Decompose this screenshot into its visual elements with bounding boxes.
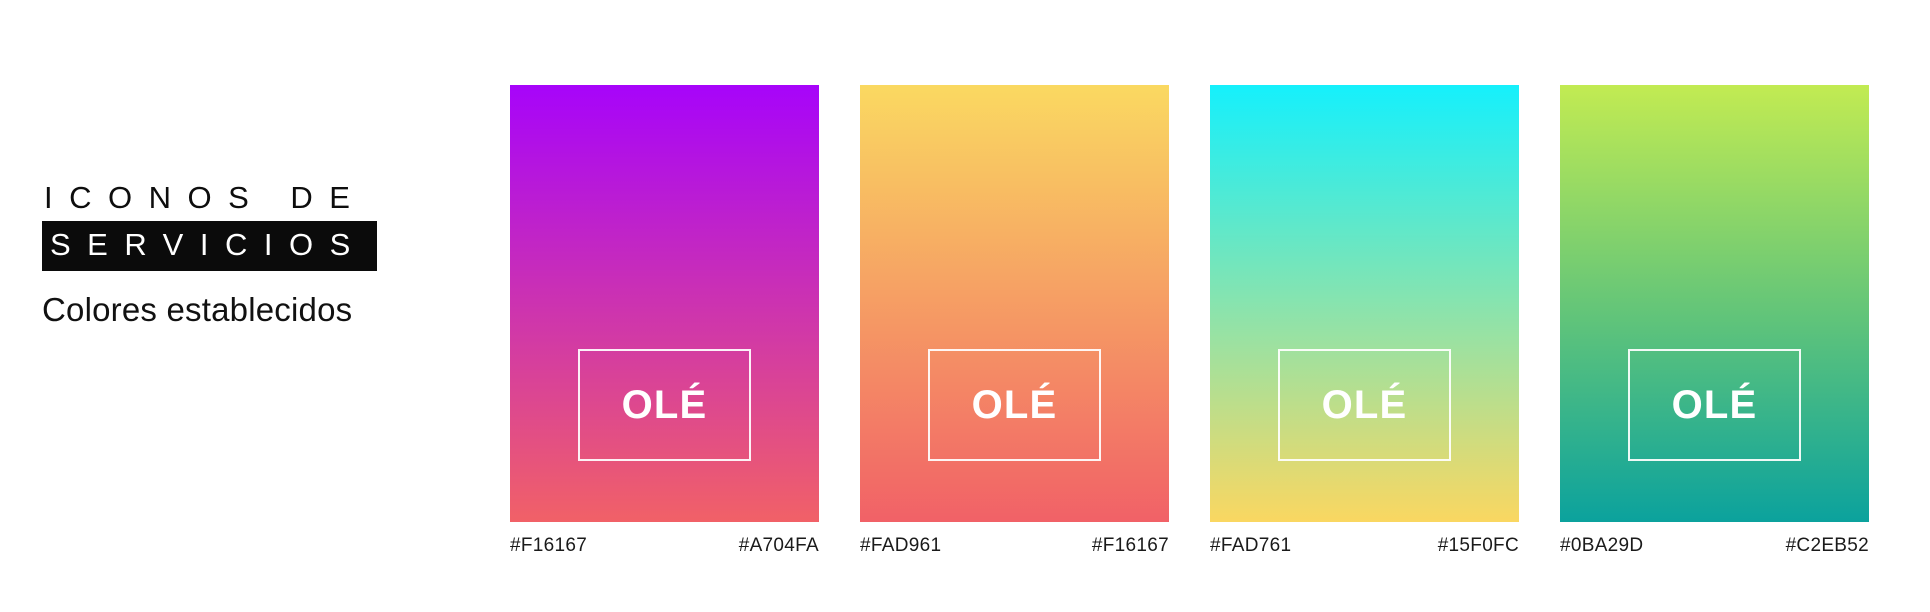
- hex-code-bottom: #0BA29D: [1560, 535, 1643, 557]
- page-title-highlight-bar: SERVICIOS: [42, 221, 377, 271]
- hex-code-bottom: #F16167: [510, 535, 587, 557]
- hex-code-top: #A704FA: [739, 535, 819, 557]
- ole-badge-box: OLÉ: [1628, 349, 1801, 460]
- page-subtitle: Colores establecidos: [42, 291, 462, 329]
- hex-code-top: #FAD961: [860, 535, 941, 557]
- page-title-line-1: ICONOS DE: [42, 178, 462, 218]
- gradient-swatch-strip: OLÉ #F16167 #A704FA OLÉ #FAD961 #F16167: [510, 85, 1870, 557]
- ole-badge-box: OLÉ: [928, 349, 1101, 460]
- ole-badge-box: OLÉ: [578, 349, 751, 460]
- hex-code-bottom: #FAD761: [1210, 535, 1291, 557]
- swatch-hex-labels: #0BA29D #C2EB52: [1560, 535, 1869, 557]
- title-block: ICONOS DE SERVICIOS Colores establecidos: [42, 178, 462, 329]
- ole-badge-box: OLÉ: [1278, 349, 1451, 460]
- swatch-card-gradient[interactable]: OLÉ: [510, 85, 819, 522]
- swatch-magenta-purple[interactable]: OLÉ #F16167 #A704FA: [510, 85, 819, 557]
- ole-badge-label: OLÉ: [1322, 385, 1408, 425]
- hex-code-top: #C2EB52: [1786, 535, 1869, 557]
- swatch-lime-teal[interactable]: OLÉ #0BA29D #C2EB52: [1560, 85, 1869, 557]
- hex-code-bottom: #F16167: [1092, 535, 1169, 557]
- ole-badge-label: OLÉ: [622, 385, 708, 425]
- swatch-hex-labels: #FAD761 #15F0FC: [1210, 535, 1519, 557]
- swatch-cyan-yellow[interactable]: OLÉ #FAD761 #15F0FC: [1210, 85, 1519, 557]
- swatch-yellow-coral[interactable]: OLÉ #FAD961 #F16167: [860, 85, 1169, 557]
- hex-code-top: #15F0FC: [1438, 535, 1519, 557]
- page-title-line-2: SERVICIOS: [50, 228, 367, 262]
- swatch-hex-labels: #F16167 #A704FA: [510, 535, 819, 557]
- swatch-hex-labels: #FAD961 #F16167: [860, 535, 1169, 557]
- color-palette-board: ICONOS DE SERVICIOS Colores establecidos…: [0, 0, 1930, 612]
- swatch-card-gradient[interactable]: OLÉ: [1210, 85, 1519, 522]
- ole-badge-label: OLÉ: [1672, 385, 1758, 425]
- ole-badge-label: OLÉ: [972, 385, 1058, 425]
- swatch-card-gradient[interactable]: OLÉ: [860, 85, 1169, 522]
- swatch-card-gradient[interactable]: OLÉ: [1560, 85, 1869, 522]
